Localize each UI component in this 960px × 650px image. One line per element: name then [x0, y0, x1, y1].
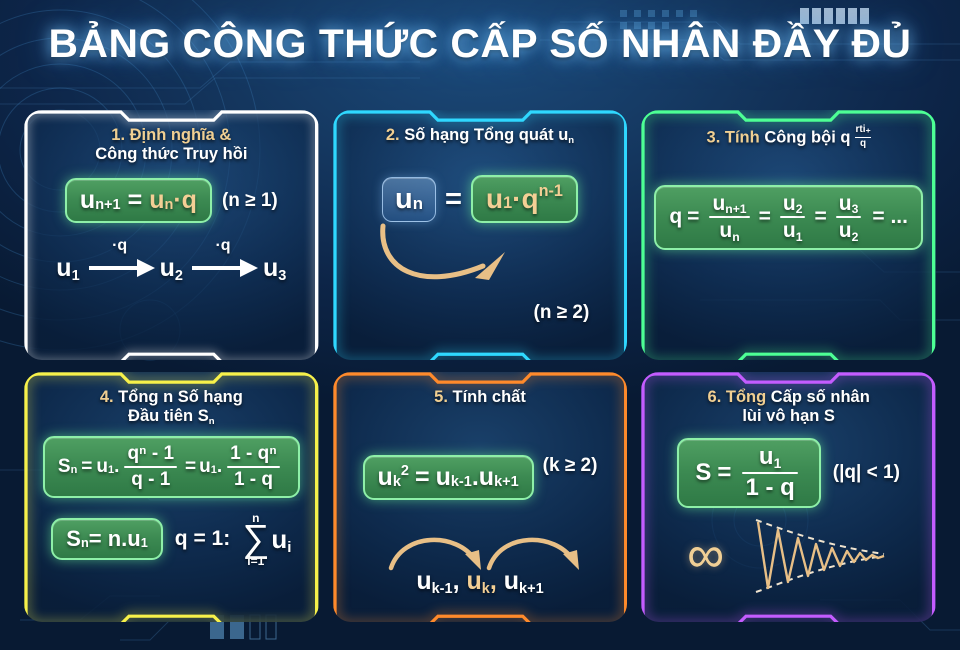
card-4-formula-box-1: Sn=u1.qⁿ - 1q - 1=u1.1 - qⁿ1 - q	[43, 436, 300, 497]
card-6-formula: S=u11 - q	[695, 445, 802, 500]
card-6-heading: 6. Tổng Cấp số nhân lùi vô hạn S	[708, 388, 870, 426]
card-6-bottom-row: ∞	[653, 516, 924, 596]
card-general-term[interactable]: 2. Số hạng Tổng quát un un = u1·qn-1 (n …	[333, 110, 628, 360]
chain-term-u2: u2	[160, 254, 183, 283]
card-5-formula: uk2=uk-1.uk+1	[378, 463, 519, 492]
card-common-ratio[interactable]: 3. Tính Công bội qrti₊q q=un+1un=u2u1=u3…	[641, 110, 936, 360]
card-6-condition: (|q| < 1)	[833, 462, 900, 484]
card-5-formula-row: uk2=uk-1.uk+1 (k ≥ 2)	[363, 431, 598, 500]
card-1-condition: (n ≥ 1)	[222, 190, 278, 212]
fraction-qn-1-over-q-1: qⁿ - 1q - 1	[124, 444, 177, 489]
card-2-equals: =	[445, 183, 462, 216]
card-sum-n-terms[interactable]: 4. Tổng n Số hạng Đầu tiên Sn Sn=u1.qⁿ -…	[24, 372, 319, 622]
card-3-heading-fraction: rti₊q	[855, 125, 870, 150]
card-1-heading: 1. Định nghĩa & Công thức Truy hồi	[95, 126, 247, 164]
chain-arrow-2: ·q	[188, 253, 258, 283]
card-5-condition: (k ≥ 2)	[543, 455, 598, 477]
card-1-formula-box: un+1=un·q	[65, 178, 212, 223]
card-4-formula-box-2: Sn = n.u1	[51, 518, 163, 560]
card-3-formula: q=un+1un=u2u1=u3u2= ...	[669, 193, 908, 242]
card-2-condition: (n ≥ 2)	[534, 302, 590, 324]
card-2-formula-box: u1·qn-1	[471, 175, 578, 223]
card-5-sequence-diagram: uk-1, uk, uk+1	[355, 526, 605, 596]
card-5-heading: 5. Tính chất	[434, 388, 526, 407]
card-2-lhs: un	[395, 183, 423, 216]
fraction-u1-over-1-q: u11 - q	[742, 445, 797, 500]
card-4-summation: n ∑ i=1 ui	[242, 512, 291, 567]
seq-term-k-plus-1: uk+1	[504, 567, 544, 595]
card-definition-recursive[interactable]: 1. Định nghĩa & Công thức Truy hồi un+1=…	[24, 110, 319, 360]
arrow-right-icon	[188, 253, 258, 283]
fraction-u3-u2: u3u2	[836, 193, 862, 242]
card-2-curved-arrow-icon	[371, 222, 541, 302]
chain-arrow-1: ·q	[85, 253, 155, 283]
card-6-formula-box: S=u11 - q	[677, 438, 820, 507]
card-2-rhs: u1·qn-1	[486, 183, 563, 215]
card-4-formula-2: Sn = n.u1	[66, 526, 148, 552]
fraction-un1-un: un+1un	[709, 193, 749, 242]
card-infinite-sum[interactable]: 6. Tổng Cấp số nhân lùi vô hạn S S=u11 -…	[641, 372, 936, 622]
fraction-u2-u1: u2u1	[780, 193, 806, 242]
card-1-recursion-chain: u1 ·q u2 ·q u3	[56, 253, 286, 283]
card-4-heading: 4. Tổng n Số hạng Đầu tiên Sn	[100, 388, 243, 426]
card-4-formula-1: Sn=u1.qⁿ - 1q - 1=u1.1 - qⁿ1 - q	[58, 444, 285, 489]
page-title: BẢNG CÔNG THỨC CẤP SỐ NHÂN ĐẦY ĐỦ	[0, 22, 960, 67]
card-5-formula-box: uk2=uk-1.uk+1	[363, 455, 534, 500]
fraction-1-qn-over-1-q: 1 - qⁿ1 - q	[227, 444, 280, 489]
card-4-second-row: Sn = n.u1 q = 1: n ∑ i=1 ui	[51, 512, 291, 567]
card-4-note: q = 1:	[175, 527, 230, 551]
card-3-formula-box: q=un+1un=u2u1=u3u2= ...	[654, 185, 923, 250]
card-6-formula-row: S=u11 - q (|q| < 1)	[677, 438, 900, 507]
card-2-lhs-box: un	[382, 177, 436, 222]
seq-term-k: uk,	[466, 567, 496, 595]
card-5-curved-arrows-icon	[355, 526, 605, 572]
card-2-heading: 2. Số hạng Tổng quát un	[386, 126, 574, 145]
card-2-formula-row: un = u1·qn-1	[382, 175, 578, 223]
card-properties[interactable]: 5. Tính chất uk2=uk-1.uk+1 (k ≥ 2) uk-1,…	[333, 372, 628, 622]
arrow-right-icon	[85, 253, 155, 283]
card-5-sequence-terms: uk-1, uk, uk+1	[355, 567, 605, 596]
card-1-formula-row: un+1=un·q (n ≥ 1)	[65, 178, 278, 223]
seq-term-k-minus-1: uk-1,	[416, 567, 459, 595]
formula-card-grid: 1. Định nghĩa & Công thức Truy hồi un+1=…	[24, 110, 936, 622]
chain-term-u3: u3	[263, 254, 286, 283]
chain-term-u1: u1	[56, 254, 79, 283]
sigma-icon: n ∑ i=1	[242, 512, 269, 567]
card-3-heading: 3. Tính Công bội qrti₊q	[707, 126, 871, 151]
damped-oscillation-graph-icon	[750, 516, 890, 596]
infinity-icon: ∞	[687, 535, 724, 577]
card-1-formula: un+1=un·q	[80, 186, 197, 215]
